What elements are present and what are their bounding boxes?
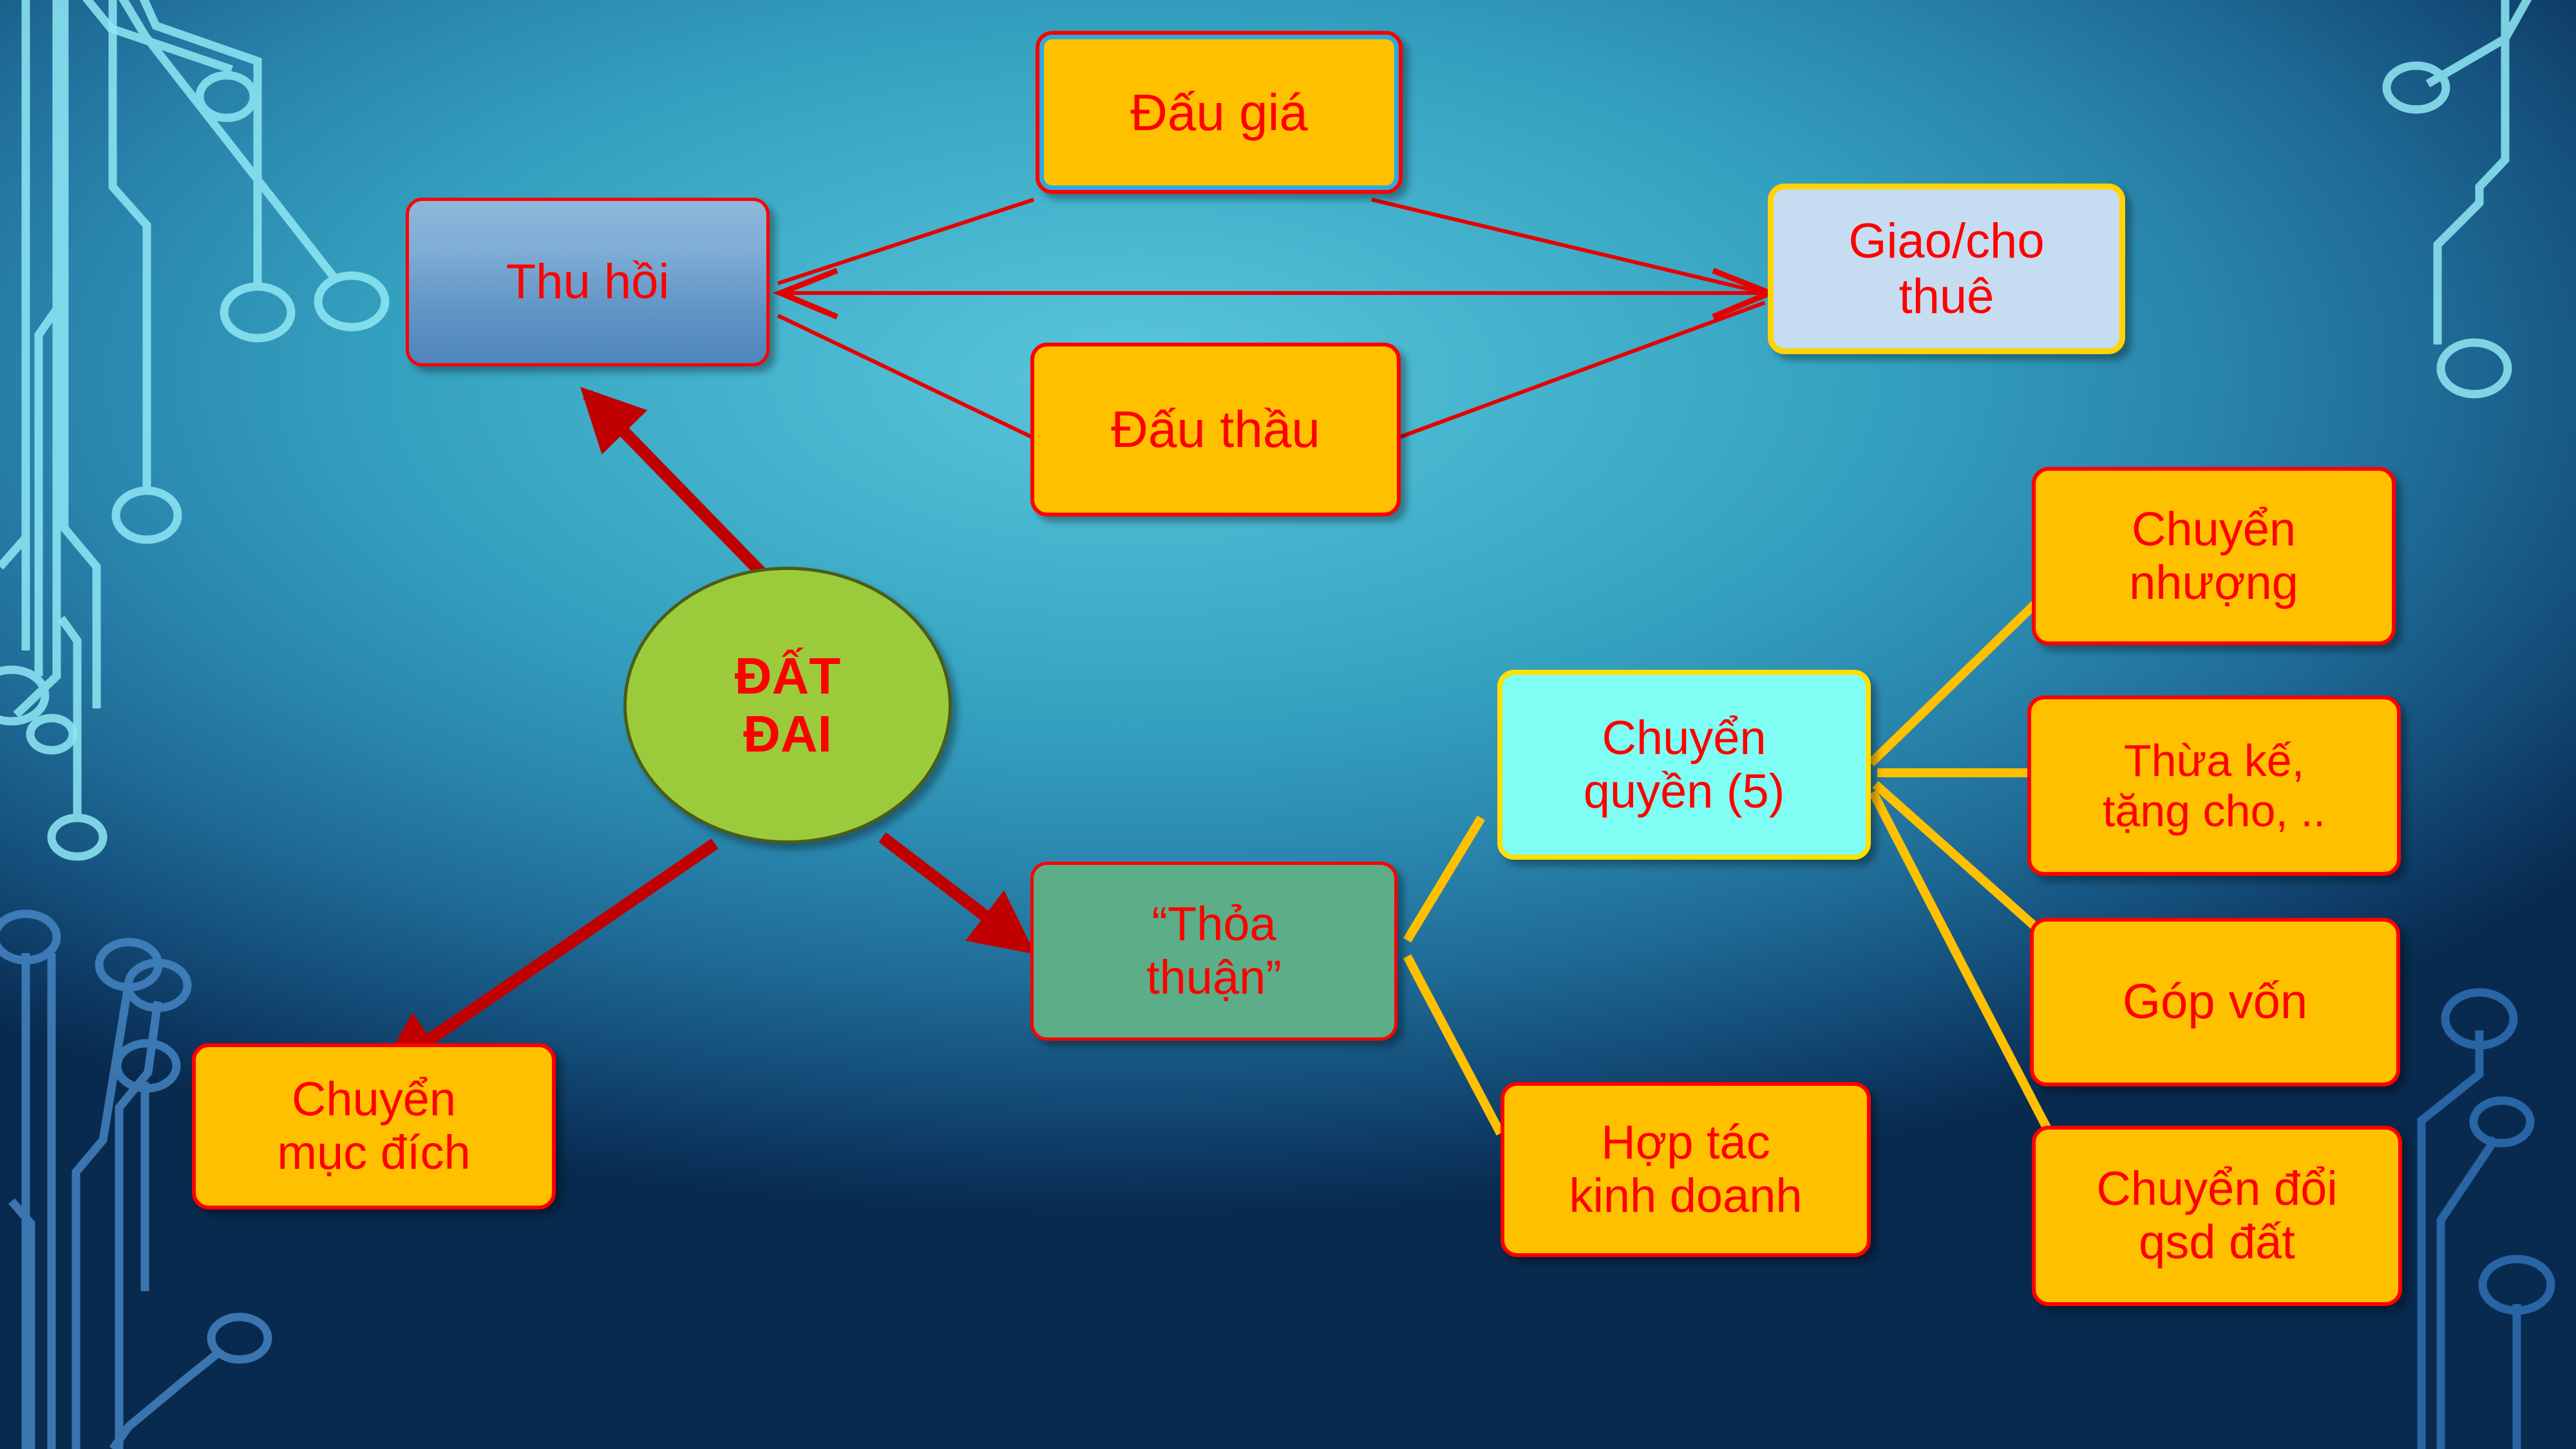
node-chuyen-doi[interactable]: Chuyển đổi qsd đất [2032,1126,2402,1306]
node-chuyen-quyen[interactable]: Chuyển quyền (5) [1497,670,1871,860]
node-chuyen-nhuong[interactable]: Chuyển nhượng [2032,467,2396,645]
node-thu-hoi-label: Thu hồi [409,254,766,309]
node-chuyen-nhuong-label: Chuyển nhượng [2036,503,2392,610]
node-giao-cho-thue-label: Giao/cho thuê [1774,214,2119,323]
node-dau-gia-label: Đấu giá [1039,84,1399,142]
node-thua-ke-label: Thừa kế, tặng cho, .. [2031,735,2397,837]
node-hop-tac-label: Hợp tác kinh doanh [1504,1116,1867,1223]
node-dau-thau[interactable]: Đấu thầu [1030,343,1401,516]
node-dau-gia[interactable]: Đấu giá [1036,31,1403,194]
node-thu-hoi[interactable]: Thu hồi [406,198,770,366]
node-dau-thau-label: Đấu thầu [1034,401,1397,459]
node-chuyen-muc-dich-label: Chuyển mục đích [196,1073,552,1180]
connector-chuyen-quyen-yellow [1871,560,2090,1211]
node-gop-von[interactable]: Góp vốn [2030,918,2400,1086]
node-chuyen-doi-label: Chuyển đổi qsd đất [2036,1162,2398,1269]
node-thoa-thuan-label: “Thỏa thuận” [1034,898,1394,1005]
node-gop-von-label: Góp vốn [2034,974,2396,1029]
connector-arrow-thu-hoi [781,270,837,317]
connector-thoa-thuan-yellow [1407,818,1501,1133]
node-hop-tac[interactable]: Hợp tác kinh doanh [1501,1082,1871,1257]
connector-arrow-giao [1713,270,1770,317]
slide-canvas: Thu hồi Đấu giá Đấu thầu Giao/cho thuê Đ… [0,0,2576,1449]
node-thua-ke[interactable]: Thừa kế, tặng cho, .. [2027,696,2401,876]
node-thoa-thuan[interactable]: “Thỏa thuận” [1030,862,1397,1041]
node-chuyen-quyen-label: Chuyển quyền (5) [1502,712,1866,819]
node-chuyen-muc-dich[interactable]: Chuyển mục đích [192,1043,556,1209]
node-dat-dai-label: ĐẤT ĐAI [627,647,949,762]
node-dat-dai[interactable]: ĐẤT ĐAI [623,567,952,844]
node-giao-cho-thue[interactable]: Giao/cho thuê [1768,184,2125,354]
